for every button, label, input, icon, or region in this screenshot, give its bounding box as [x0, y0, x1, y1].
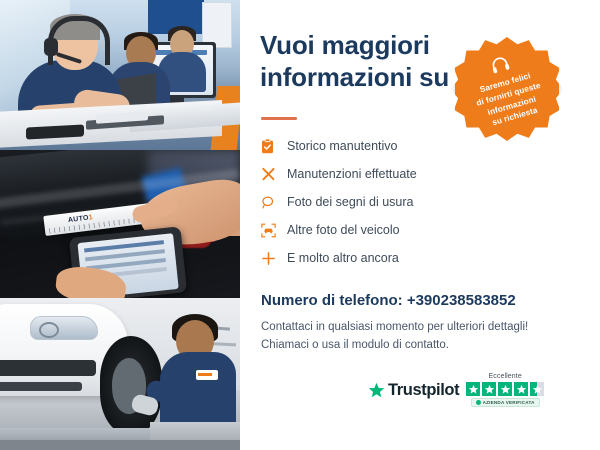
call-center-agent-photo	[0, 0, 240, 150]
vehicle-inspection-ruler-photo: AUTO1	[0, 150, 240, 298]
badge-text: Saremo felici di fornirti queste informa…	[460, 65, 559, 135]
promo-page: AUTO1	[0, 0, 600, 450]
trustpilot-stars	[466, 382, 544, 396]
uniform-logo-badge	[196, 370, 218, 380]
car-grille	[0, 360, 96, 376]
trustpilot-logo: Trustpilot	[368, 381, 459, 400]
info-on-request-badge: Saremo felici di fornirti queste informa…	[455, 37, 559, 141]
contact-description-line-one: Contattaci in qualsiasi momento per ulte…	[261, 318, 581, 336]
list-item-label: Foto dei segni di usura	[287, 195, 413, 209]
verified-label: AZIENDA VERIFICATA	[483, 400, 535, 405]
tools-wrench-icon	[261, 167, 287, 182]
list-item-label: Altre foto del veicolo	[287, 223, 400, 237]
title-divider	[261, 117, 297, 120]
trustpilot-star-icon	[368, 382, 385, 399]
star-filled	[514, 382, 528, 396]
headset-icon	[488, 53, 513, 78]
list-item-label: E molto altro ancora	[287, 251, 399, 265]
photo-column: AUTO1	[0, 0, 240, 450]
info-panel: Vuoi maggiori informazioni su ? Saremo f…	[240, 0, 600, 450]
list-item[interactable]: E molto altro ancora	[261, 244, 531, 272]
star-filled	[498, 382, 512, 396]
verified-business-badge: AZIENDA VERIFICATA	[471, 398, 540, 407]
trustpilot-score-block: Eccellente	[466, 373, 544, 407]
star-half	[530, 382, 544, 396]
plus-icon	[261, 251, 287, 266]
car-lower-grille	[0, 382, 82, 391]
star-filled	[482, 382, 496, 396]
list-item-label: Manutenzioni effettuate	[287, 167, 417, 181]
list-item[interactable]: Storico manutentivo	[261, 132, 531, 160]
magnifier-icon	[261, 195, 287, 210]
list-item[interactable]: Manutenzioni effettuate	[261, 160, 531, 188]
contact-description-line-two: Chiamaci o usa il modulo di contatto.	[261, 336, 581, 354]
garage-floor	[0, 440, 240, 450]
trustpilot-name: Trustpilot	[388, 381, 459, 400]
trustpilot-rating[interactable]: Trustpilot Eccellente	[368, 373, 544, 407]
car-headlight	[30, 316, 98, 340]
star-filled	[466, 382, 480, 396]
list-item[interactable]: Foto dei segni di usura	[261, 188, 531, 216]
phone-number-label[interactable]: Numero di telefono: +390238583852	[261, 292, 516, 309]
trustpilot-rating-label: Eccellente	[489, 373, 522, 380]
list-item[interactable]: Altre foto del veicolo	[261, 216, 531, 244]
mechanic-wheel-photo	[0, 298, 240, 450]
contact-description: Contattaci in qualsiasi momento per ulte…	[261, 318, 581, 354]
list-item-label: Storico manutentivo	[287, 139, 397, 153]
feature-list: Storico manutentivo Manutenzioni effettu…	[261, 132, 531, 272]
verified-check-icon	[476, 400, 481, 405]
clipboard-check-icon	[261, 139, 287, 154]
car-scan-frame-icon	[261, 223, 287, 238]
